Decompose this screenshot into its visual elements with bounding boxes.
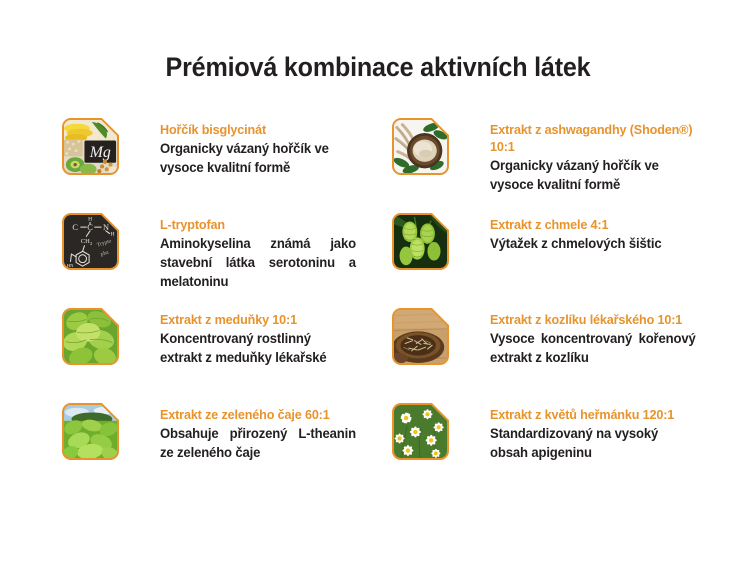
- ingredient-heading: Hořčík bisglycinát: [160, 121, 356, 138]
- ingredient-text: Extrakt z chmele 4:1 Výtažek z chmelovýc…: [449, 213, 702, 253]
- ingredient-item: Mg: [62, 118, 362, 177]
- ingredient-description: Koncentrovaný rostlinný extrakt z meduňk…: [160, 329, 356, 367]
- ingredient-item: Extrakt z kozlíku lékařského 10:1 Vysoce…: [392, 308, 702, 367]
- ingredient-text: Extrakt z meduňky 10:1 Koncentrovaný ros…: [119, 308, 362, 367]
- ingredient-text: L-tryptofan Aminokyselina známá jako sta…: [119, 213, 362, 291]
- ingredient-thumbnail: [392, 403, 449, 460]
- ingredient-heading: Extrakt ze zeleného čaje 60:1: [160, 406, 356, 423]
- ingredient-heading: Extrakt z květů heřmánku 120:1: [490, 406, 696, 423]
- ingredient-item: Extrakt ze zeleného čaje 60:1 Obsahuje p…: [62, 403, 362, 462]
- ingredient-thumbnail: [62, 403, 119, 460]
- ashwagandha-root-powder-photo: [394, 120, 447, 173]
- ingredient-text: Hořčík bisglycinát Organicky vázaný hořč…: [119, 118, 362, 177]
- hop-cones-photo: [394, 215, 447, 268]
- green-tea-field-photo: [64, 405, 117, 458]
- ingredient-item: Extrakt z meduňky 10:1 Koncentrovaný ros…: [62, 308, 362, 367]
- ingredient-description: Standardizovaný na vysoký obsah apigenin…: [490, 424, 696, 462]
- ingredient-heading: L-tryptofan: [160, 216, 356, 233]
- ingredient-thumbnail: [62, 308, 119, 365]
- ingredient-thumbnail: Mg: [62, 118, 119, 175]
- chamomile-flowers-photo: [394, 405, 447, 458]
- ingredient-heading: Extrakt z ashwagandhy (Shoden®) 10:1: [490, 121, 696, 155]
- svg-text:HN: HN: [67, 264, 74, 268]
- ingredient-thumbnail: [392, 118, 449, 175]
- page-title: Prémiová kombinace aktivních látek: [26, 52, 729, 83]
- ingredient-description: Obsahuje přirozený L-theanin ze zeleného…: [160, 424, 356, 462]
- ingredient-text: Extrakt z ashwagandhy (Shoden®) 10:1 Org…: [449, 118, 702, 194]
- ingredient-item: Extrakt z květů heřmánku 120:1 Standardi…: [392, 403, 702, 462]
- infographic-page: Prémiová kombinace aktivních látek: [0, 0, 756, 567]
- ingredient-thumbnail: [392, 213, 449, 270]
- tryptophan-chalkboard-photo: C C N H H CH 2: [64, 215, 117, 268]
- svg-text:C: C: [72, 223, 78, 232]
- ingredient-description: Organicky vázaný hořčík ve vysoce kvalit…: [490, 156, 696, 194]
- ingredient-item: Extrakt z chmele 4:1 Výtažek z chmelovýc…: [392, 213, 702, 270]
- magnesium-foods-photo: Mg: [64, 120, 117, 173]
- ingredient-thumbnail: C C N H H CH 2: [62, 213, 119, 270]
- ingredient-thumbnail: [392, 308, 449, 365]
- ingredient-heading: Extrakt z meduňky 10:1: [160, 311, 356, 328]
- valerian-root-bowl-photo: [394, 310, 447, 363]
- svg-text:H: H: [110, 231, 114, 237]
- ingredient-heading: Extrakt z kozlíku lékařského 10:1: [490, 311, 696, 328]
- lemon-balm-leaves-photo: [64, 310, 117, 363]
- ingredient-description: Vysoce koncentrovaný kořenový extrakt z …: [490, 329, 696, 367]
- ingredient-description: Výtažek z chmelových šištic: [490, 234, 696, 253]
- ingredient-description: Organicky vázaný hořčík ve vysoce kvalit…: [160, 139, 356, 177]
- svg-text:H: H: [88, 217, 92, 223]
- ingredient-text: Extrakt ze zeleného čaje 60:1 Obsahuje p…: [119, 403, 362, 462]
- ingredient-heading: Extrakt z chmele 4:1: [490, 216, 696, 233]
- svg-text:Mg: Mg: [89, 144, 111, 161]
- ingredient-grid: Mg: [0, 118, 756, 498]
- ingredient-item: Extrakt z ashwagandhy (Shoden®) 10:1 Org…: [392, 118, 702, 194]
- ingredient-text: Extrakt z květů heřmánku 120:1 Standardi…: [449, 403, 702, 462]
- ingredient-item: C C N H H CH 2: [62, 213, 362, 291]
- ingredient-text: Extrakt z kozlíku lékařského 10:1 Vysoce…: [449, 308, 702, 367]
- svg-text:CH: CH: [81, 238, 90, 245]
- ingredient-description: Aminokyselina známá jako stavební látka …: [160, 234, 356, 291]
